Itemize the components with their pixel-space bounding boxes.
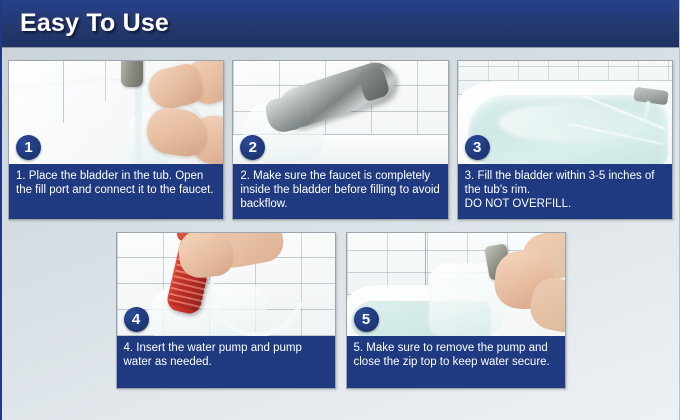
step-caption-3: 3. Fill the bladder within 3-5 inches of… xyxy=(458,164,672,219)
step-card-1[interactable]: 1 1. Place the bladder in the tub. Open … xyxy=(8,60,224,220)
step-photo-3: 3 xyxy=(458,61,672,164)
step-photo-4: 4 xyxy=(117,233,335,336)
scene-seal-zip-top xyxy=(347,233,565,336)
step-card-3[interactable]: 3 3. Fill the bladder within 3-5 inches … xyxy=(457,60,673,220)
steps-area: 1 1. Place the bladder in the tub. Open … xyxy=(2,48,679,389)
steps-row-top: 1 1. Place the bladder in the tub. Open … xyxy=(8,60,673,220)
scene-chrome-spout xyxy=(233,61,447,164)
page-title: Easy To Use xyxy=(20,9,169,38)
step-caption-2: 2. Make sure the faucet is completely in… xyxy=(233,164,447,219)
steps-row-bottom: 4 4. Insert the water pump and pump wate… xyxy=(8,232,673,389)
step-photo-5: 5 xyxy=(347,233,565,336)
step-caption-1: 1. Place the bladder in the tub. Open th… xyxy=(9,164,223,219)
scene-red-pump xyxy=(117,233,335,336)
step-badge-5: 5 xyxy=(354,307,379,332)
scene-filled-bladder xyxy=(458,61,672,164)
step-badge-1: 1 xyxy=(16,135,41,160)
header-banner: Easy To Use xyxy=(2,0,679,48)
step-badge-3: 3 xyxy=(465,135,490,160)
step-caption-5: 5. Make sure to remove the pump and clos… xyxy=(347,336,565,388)
scene-tub-faucet-hands xyxy=(9,61,223,164)
step-photo-2: 2 xyxy=(233,61,447,164)
step-card-2[interactable]: 2 2. Make sure the faucet is completely … xyxy=(232,60,448,220)
step-badge-4: 4 xyxy=(124,307,149,332)
step-card-4[interactable]: 4 4. Insert the water pump and pump wate… xyxy=(116,232,336,389)
step-card-5[interactable]: 5 5. Make sure to remove the pump and cl… xyxy=(346,232,566,389)
step-photo-1: 1 xyxy=(9,61,223,164)
step-caption-4: 4. Insert the water pump and pump water … xyxy=(117,336,335,388)
